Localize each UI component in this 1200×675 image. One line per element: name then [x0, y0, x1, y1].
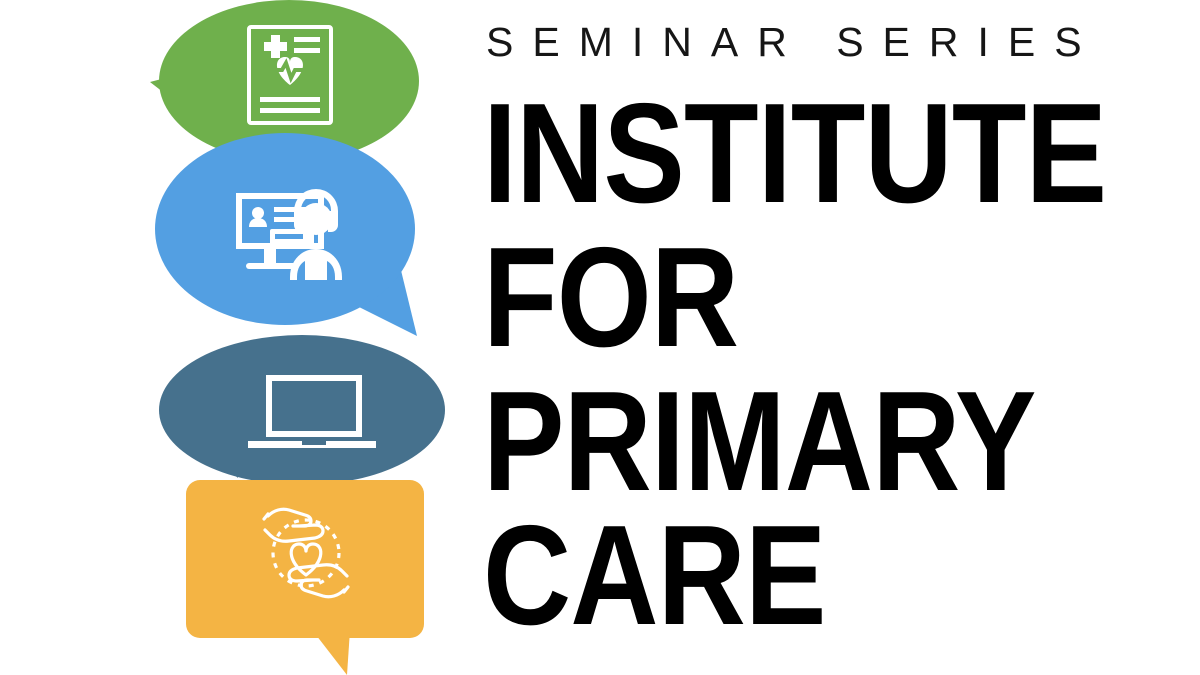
title-line-care: CARE [483, 518, 826, 634]
seminar-series-title-slide: SEMINAR SERIES INSTITUTE FOR PRIMARY CAR… [0, 0, 1200, 675]
title-line-primary: PRIMARY [483, 384, 1036, 500]
title-line-institute: INSTITUTE [483, 96, 1106, 212]
eyebrow-seminar-series: SEMINAR SERIES [486, 22, 1101, 63]
bubble-teal [159, 335, 445, 485]
title-block: SEMINAR SERIES INSTITUTE FOR PRIMARY CAR… [483, 0, 1183, 675]
speech-bubble-graphic [0, 0, 470, 675]
bubble-orange [186, 480, 424, 675]
bubble-teal-body [159, 335, 445, 485]
title-line-for: FOR [483, 240, 738, 356]
speech-bubble-stack [0, 0, 470, 675]
bubble-orange-body [186, 480, 424, 638]
